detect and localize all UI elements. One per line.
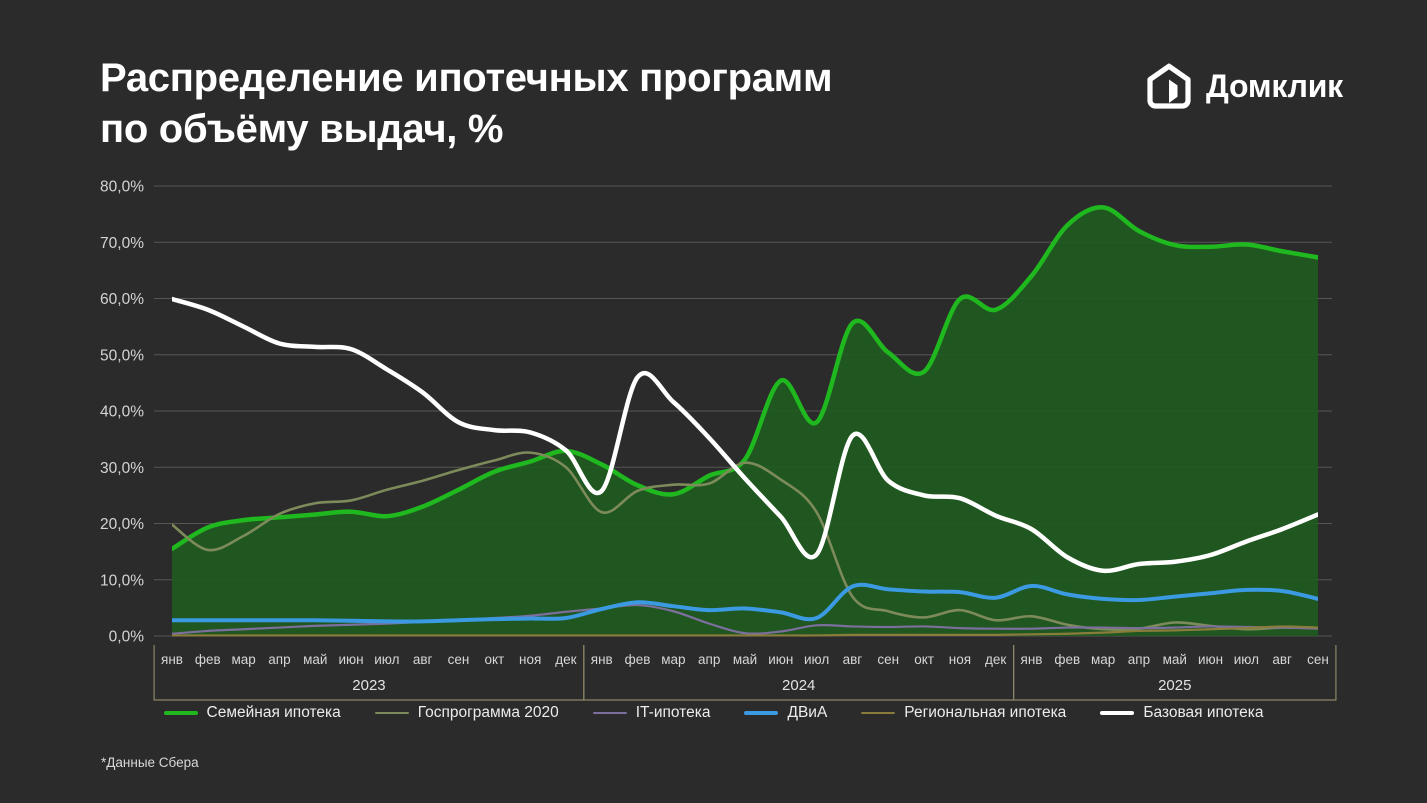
x-axis-month-label: ноя: [949, 652, 971, 667]
x-axis-month-label: июл: [1234, 652, 1259, 667]
x-axis-month-label: авг: [413, 652, 433, 667]
chart-y-axis: 0,0%10,0%20,0%30,0%40,0%50,0%60,0%70,0%8…: [100, 179, 144, 646]
x-axis-month-label: май: [733, 652, 757, 667]
x-axis-year-label: 2024: [782, 677, 815, 694]
series-area-Семейная ипотека: [172, 207, 1318, 636]
x-axis-month-label: апр: [268, 652, 290, 667]
x-axis-month-label: май: [303, 652, 327, 667]
legend-item[interactable]: Региональная ипотека: [861, 704, 1066, 722]
y-axis-tick-label: 70,0%: [100, 235, 144, 252]
y-axis-tick-label: 50,0%: [100, 347, 144, 364]
x-axis-year-label: 2023: [352, 677, 385, 694]
x-axis-month-label: янв: [161, 652, 183, 667]
y-axis-tick-label: 30,0%: [100, 460, 144, 477]
y-axis-tick-label: 10,0%: [100, 572, 144, 589]
legend-item-label: ДВиА: [787, 704, 827, 722]
x-axis-year-label: 2025: [1158, 677, 1191, 694]
legend-item-label: Региональная ипотека: [904, 704, 1066, 722]
legend-color-swatch: [375, 712, 409, 714]
source-footnote: *Данные Сбера: [101, 755, 199, 770]
x-axis-month-label: фев: [1054, 652, 1080, 667]
x-axis-month-label: июн: [768, 652, 793, 667]
y-axis-tick-label: 20,0%: [100, 516, 144, 533]
x-axis-month-label: апр: [1128, 652, 1150, 667]
y-axis-tick-label: 80,0%: [100, 179, 144, 196]
x-axis-month-label: мар: [231, 652, 255, 667]
x-axis-month-label: сен: [1307, 652, 1329, 667]
chart-legend: Семейная ипотекаГоспрограмма 2020IT-ипот…: [0, 704, 1427, 722]
chart-container: 0,0%10,0%20,0%30,0%40,0%50,0%60,0%70,0%8…: [0, 0, 1427, 803]
legend-item[interactable]: ДВиА: [744, 704, 827, 722]
legend-item-label: Госпрограмма 2020: [418, 704, 559, 722]
x-axis-month-label: янв: [591, 652, 613, 667]
legend-color-swatch: [593, 712, 627, 714]
legend-item[interactable]: Семейная ипотека: [164, 704, 341, 722]
x-axis-month-label: мар: [1091, 652, 1115, 667]
x-axis-month-label: ноя: [519, 652, 541, 667]
x-axis-month-label: май: [1163, 652, 1187, 667]
legend-item[interactable]: Базовая ипотека: [1100, 704, 1263, 722]
x-axis-month-label: окт: [914, 652, 934, 667]
x-axis-month-label: мар: [661, 652, 685, 667]
legend-item[interactable]: Госпрограмма 2020: [375, 704, 559, 722]
legend-item[interactable]: IT-ипотека: [593, 704, 711, 722]
legend-color-swatch: [1100, 711, 1134, 715]
x-axis-month-label: июл: [804, 652, 829, 667]
legend-color-swatch: [861, 712, 895, 714]
x-axis-month-label: янв: [1021, 652, 1043, 667]
chart-area-fill: [172, 207, 1318, 636]
x-axis-month-label: дек: [985, 652, 1006, 667]
legend-color-swatch: [164, 711, 198, 715]
legend-color-swatch: [744, 711, 778, 715]
x-axis-month-label: апр: [698, 652, 720, 667]
x-axis-month-label: фев: [625, 652, 651, 667]
chart-page: Распределение ипотечных программ по объё…: [0, 0, 1427, 803]
line-chart: 0,0%10,0%20,0%30,0%40,0%50,0%60,0%70,0%8…: [0, 0, 1427, 803]
chart-x-axis: янвфевмарапрмайиюниюлавгсеноктноядек2023…: [154, 645, 1336, 700]
y-axis-tick-label: 40,0%: [100, 404, 144, 421]
y-axis-tick-label: 60,0%: [100, 291, 144, 308]
x-axis-month-label: дек: [555, 652, 576, 667]
x-axis-month-label: авг: [843, 652, 863, 667]
x-axis-month-label: июл: [374, 652, 399, 667]
x-axis-month-label: сен: [877, 652, 899, 667]
x-axis-month-label: фев: [195, 652, 221, 667]
x-axis-month-label: авг: [1272, 652, 1292, 667]
legend-item-label: Семейная ипотека: [207, 704, 341, 722]
x-axis-month-label: сен: [448, 652, 470, 667]
legend-item-label: Базовая ипотека: [1143, 704, 1263, 722]
y-axis-tick-label: 0,0%: [109, 629, 145, 646]
x-axis-month-label: июн: [339, 652, 364, 667]
legend-item-label: IT-ипотека: [636, 704, 711, 722]
x-axis-month-label: окт: [484, 652, 504, 667]
x-axis-month-label: июн: [1198, 652, 1223, 667]
